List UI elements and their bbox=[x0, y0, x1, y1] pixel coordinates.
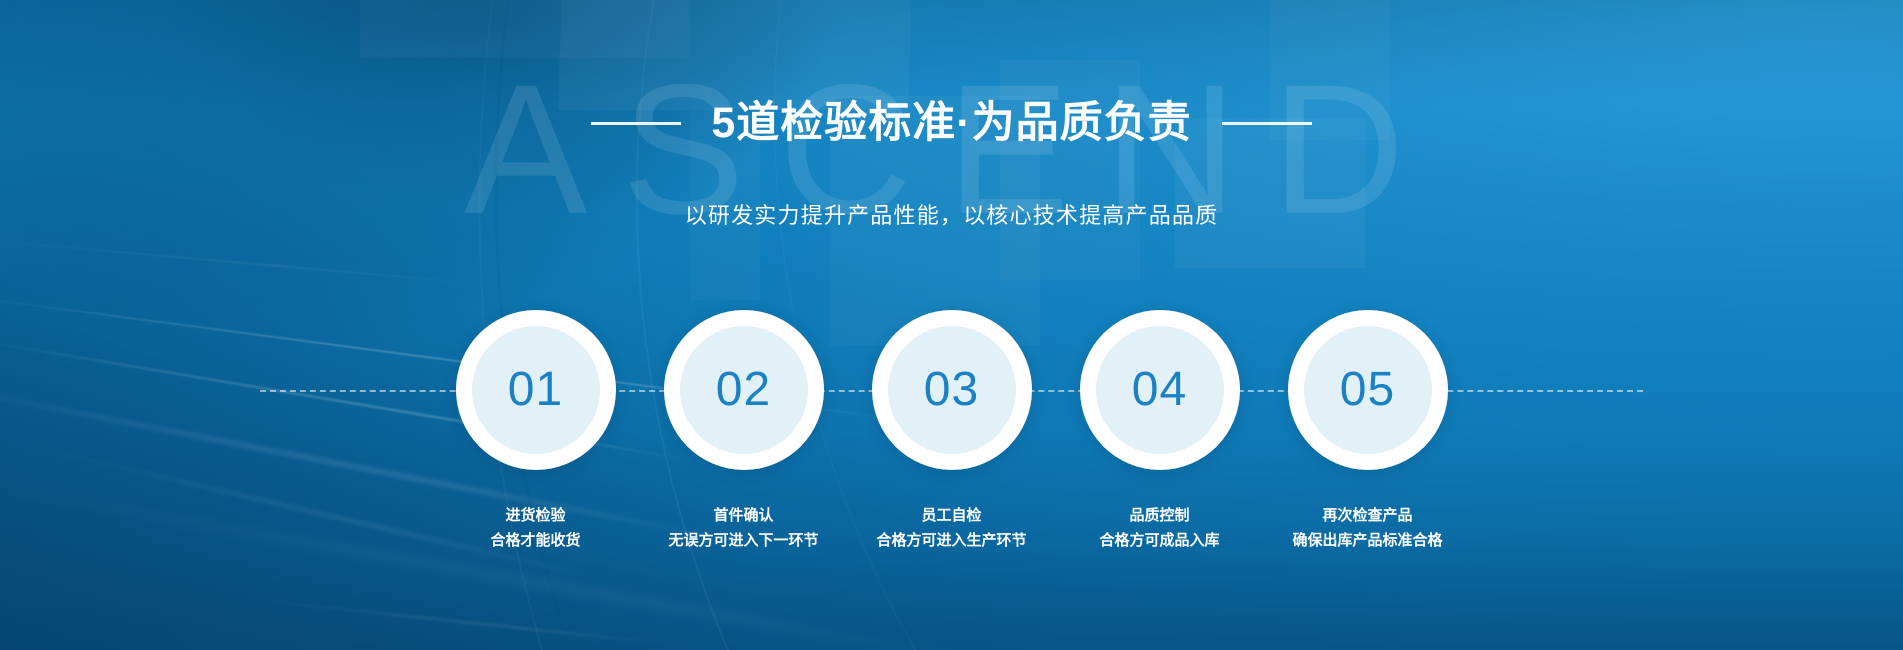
step-title-01: 进货检验 bbox=[505, 507, 565, 524]
step-number-04: 04 bbox=[1132, 366, 1187, 414]
step-circle-04: 04 bbox=[1080, 310, 1240, 470]
step-circle-inner-02: 02 bbox=[680, 326, 808, 454]
step-title-02: 首件确认 bbox=[713, 507, 773, 524]
step-desc-03: 合格方可进入生产环节 bbox=[876, 529, 1026, 554]
step-desc-05: 确保出库产品标准合格 bbox=[1292, 529, 1442, 554]
step-title-05: 再次检查产品 bbox=[1322, 507, 1412, 524]
quality-inspection-banner: ASCEND 5道检验标准·为品质负责 以研发实力提升产品性能，以核心技术提高产… bbox=[0, 0, 1903, 650]
step-list: 01 进货检验 合格才能收货 02 首件确认 无误方可进入下一环节 bbox=[0, 310, 1903, 554]
step-item-04: 04 品质控制 合格方可成品入库 bbox=[1056, 310, 1264, 554]
step-number-02: 02 bbox=[716, 366, 771, 414]
headline-row: 5道检验标准·为品质负责 bbox=[0, 98, 1903, 150]
step-desc-04: 合格方可成品入库 bbox=[1099, 529, 1219, 554]
page-title: 5道检验标准·为品质负责 bbox=[711, 98, 1191, 150]
step-desc-01: 合格才能收货 bbox=[490, 529, 580, 554]
step-label-04: 品质控制 合格方可成品入库 bbox=[1099, 504, 1219, 554]
step-number-05: 05 bbox=[1340, 366, 1395, 414]
step-item-03: 03 员工自检 合格方可进入生产环节 bbox=[848, 310, 1056, 554]
step-circle-inner-04: 04 bbox=[1096, 326, 1224, 454]
step-number-01: 01 bbox=[508, 366, 563, 414]
step-circle-03: 03 bbox=[872, 310, 1032, 470]
step-label-02: 首件确认 无误方可进入下一环节 bbox=[668, 504, 818, 554]
step-circle-05: 05 bbox=[1288, 310, 1448, 470]
step-circle-inner-01: 01 bbox=[472, 326, 600, 454]
step-number-03: 03 bbox=[924, 366, 979, 414]
step-title-03: 员工自检 bbox=[921, 507, 981, 524]
page-subtitle: 以研发实力提升产品性能，以核心技术提高产品品质 bbox=[0, 198, 1903, 230]
step-title-04: 品质控制 bbox=[1129, 507, 1189, 524]
step-item-02: 02 首件确认 无误方可进入下一环节 bbox=[640, 310, 848, 554]
headline-rule-right bbox=[1222, 122, 1312, 125]
step-item-05: 05 再次检查产品 确保出库产品标准合格 bbox=[1264, 310, 1472, 554]
step-label-03: 员工自检 合格方可进入生产环节 bbox=[876, 504, 1026, 554]
step-circle-inner-03: 03 bbox=[888, 326, 1016, 454]
step-circle-02: 02 bbox=[664, 310, 824, 470]
headline-rule-left bbox=[591, 122, 681, 125]
step-desc-02: 无误方可进入下一环节 bbox=[668, 529, 818, 554]
step-item-01: 01 进货检验 合格才能收货 bbox=[432, 310, 640, 554]
step-circle-inner-05: 05 bbox=[1304, 326, 1432, 454]
step-circle-01: 01 bbox=[456, 310, 616, 470]
step-label-05: 再次检查产品 确保出库产品标准合格 bbox=[1292, 504, 1442, 554]
step-label-01: 进货检验 合格才能收货 bbox=[490, 504, 580, 554]
